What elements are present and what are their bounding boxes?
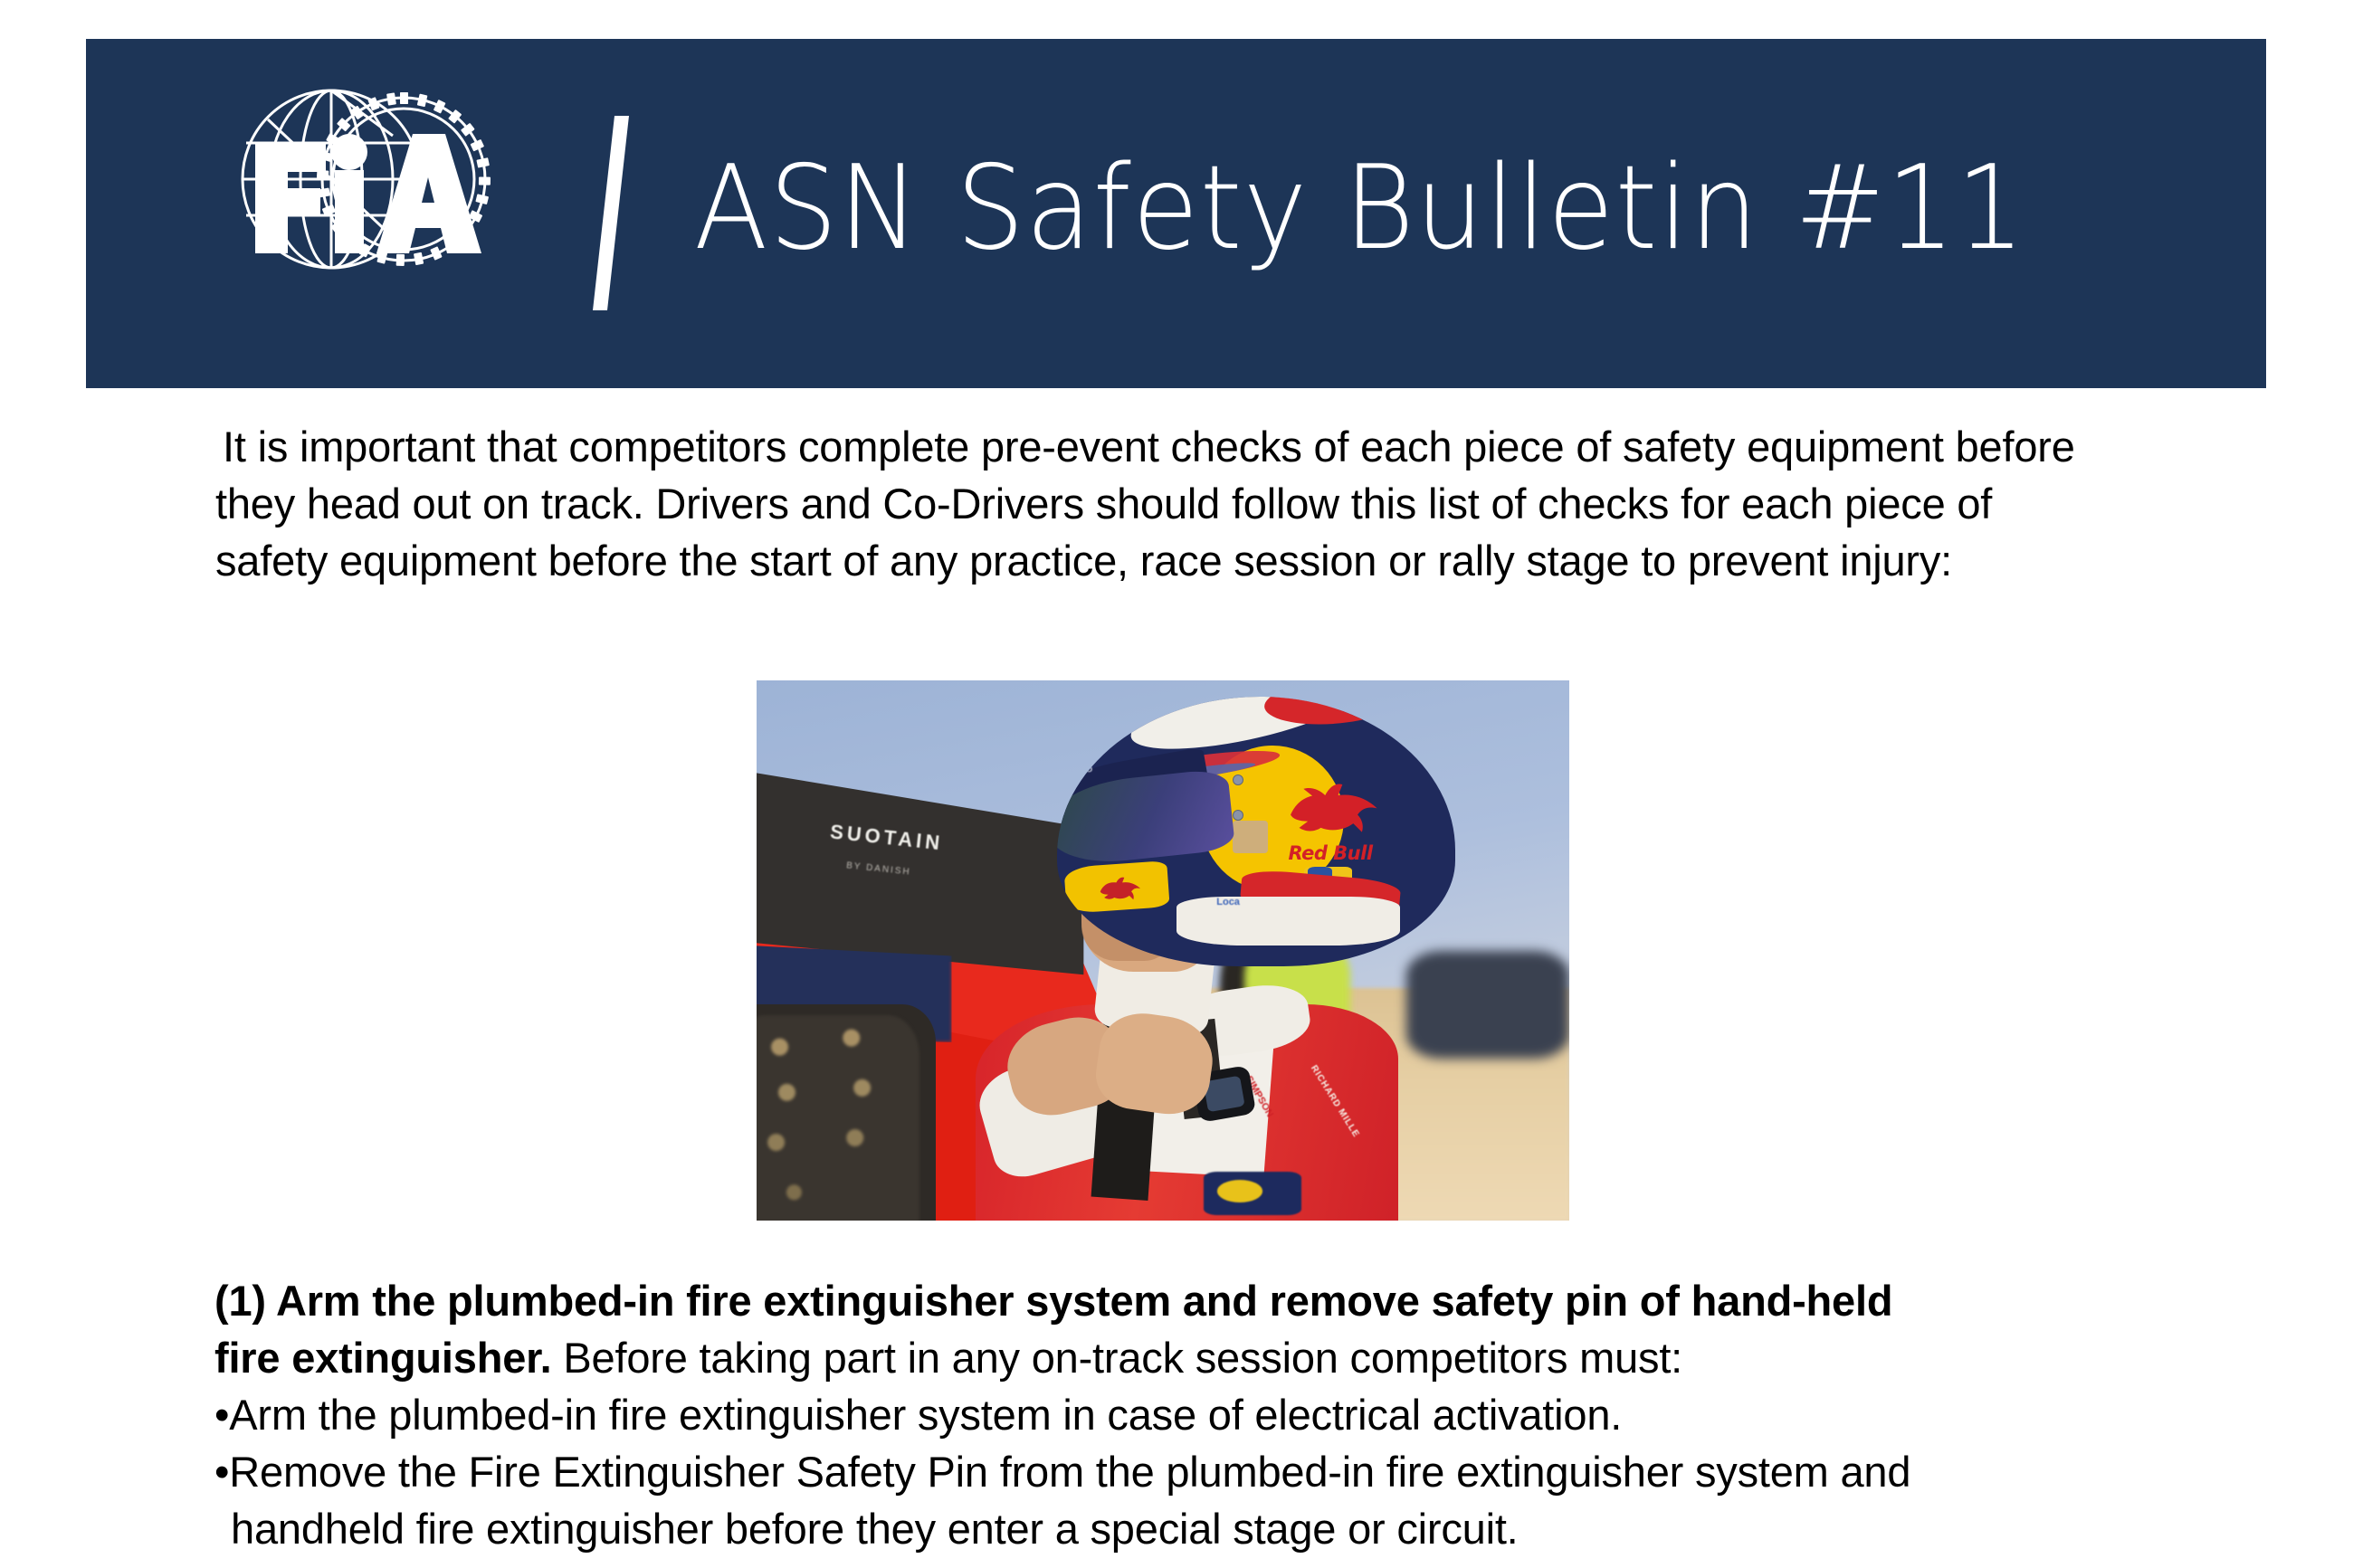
photo-background-vehicle — [1406, 951, 1569, 1059]
helmet-vent — [1233, 821, 1269, 853]
bullet-marker-1: • — [214, 1391, 229, 1439]
page-title: ASN Safety Bulletin #11 — [694, 81, 2026, 337]
section-1-bullet-1: •Arm the plumbed-in fire extinguisher sy… — [214, 1386, 2133, 1443]
intro-paragraph: It is important that competitors complet… — [215, 418, 2107, 589]
intro-line-4: rally stage to prevent injury: — [1437, 537, 1952, 584]
section-1-heading-rest: Before taking part in any on-track sessi… — [552, 1334, 1683, 1382]
helmet-redbull-bull-icon — [1264, 767, 1407, 843]
section-1-bullet-2-continuation: handheld fire extinguisher before they e… — [214, 1500, 2133, 1557]
intro-line-1: It is important that competitors complet… — [223, 423, 1735, 470]
helmet-chin-bull-icon — [1081, 870, 1161, 905]
section-1-heading-line2: fire extinguisher. — [214, 1334, 552, 1382]
fia-logo-icon — [232, 72, 500, 286]
bulletin-photo: SUOTAIN BY DANISH SIMPSON RICHARD MILLE — [757, 680, 1569, 1221]
header-band: ASN Safety Bulletin #11 — [86, 39, 2266, 388]
photo-tyre-tread — [757, 1015, 919, 1221]
helmet-lower-white-band — [1176, 897, 1399, 946]
section-1-heading-line1: (1) Arm the plumbed-in fire extinguisher… — [214, 1277, 1892, 1325]
bullet-marker-2: • — [214, 1448, 229, 1496]
photo-suit-redbull-badge — [1204, 1172, 1301, 1215]
section-1-bullet-2: •Remove the Fire Extinguisher Safety Pin… — [214, 1443, 2133, 1500]
helmet-redbull-wordmark: Red Bull — [1288, 842, 1372, 864]
bullet-1-text: Arm the plumbed-in fire extinguisher sys… — [229, 1391, 1622, 1439]
bullet-2-text-line1: Remove the Fire Extinguisher Safety Pin … — [229, 1448, 1910, 1496]
section-1: (1) Arm the plumbed-in fire extinguisher… — [214, 1272, 2133, 1557]
helmet-loca-sponsor: Loca — [1216, 897, 1240, 908]
section-1-heading: (1) Arm the plumbed-in fire extinguisher… — [214, 1272, 2133, 1386]
header-separator-slash — [593, 116, 629, 310]
